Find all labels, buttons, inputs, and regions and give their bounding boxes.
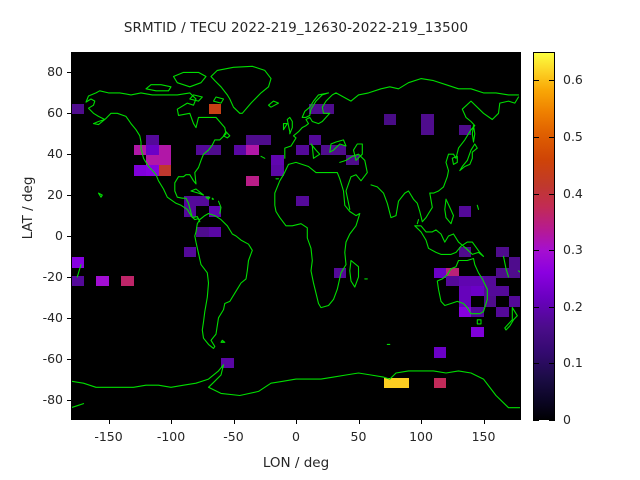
coastline-path — [71, 404, 84, 408]
colorbar-tick-mark — [533, 363, 539, 364]
coastline-path — [285, 79, 519, 159]
colorbar-tick-label: 0.6 — [563, 72, 609, 87]
colorbar-tick-mark — [533, 194, 539, 195]
coastline-path — [284, 124, 288, 130]
x-axis-label: LON / deg — [71, 455, 521, 471]
coastline-path — [371, 97, 519, 222]
y-tick-label: 80 — [23, 64, 63, 79]
coastline-path — [77, 265, 81, 277]
coastline-path — [224, 132, 230, 138]
y-tick-label: -80 — [23, 392, 63, 407]
coastline-path — [354, 144, 363, 160]
x-tick-label: 50 — [329, 429, 389, 444]
y-tick-label: 60 — [23, 105, 63, 120]
x-tick-label: 150 — [454, 429, 514, 444]
coastline-path — [505, 308, 518, 330]
colorbar-tick-mark — [549, 307, 555, 308]
coastline-path — [221, 340, 225, 342]
coastline-path — [261, 156, 265, 158]
coastline-path — [445, 199, 454, 224]
coastline-path — [269, 101, 279, 107]
y-tick-mark — [67, 195, 71, 196]
colorbar-tick-label: 0 — [563, 412, 609, 427]
colorbar-tick-mark — [533, 137, 539, 138]
colorbar-tick-mark — [533, 250, 539, 251]
x-tick-label: 0 — [266, 429, 326, 444]
coastline-path — [211, 66, 271, 113]
x-tick-mark — [359, 420, 360, 424]
coastline-path — [415, 226, 484, 257]
x-tick-mark — [171, 420, 172, 424]
colorbar-tick-mark — [549, 363, 555, 364]
colorbar-tick-mark — [549, 80, 555, 81]
coastline-path — [437, 259, 487, 314]
coastline-path — [71, 365, 521, 408]
coastline-path — [477, 205, 478, 209]
x-tick-label: -100 — [141, 429, 201, 444]
colorbar-tick-mark — [533, 420, 539, 421]
coastline-path — [504, 256, 509, 277]
coastline-path — [195, 214, 253, 349]
y-tick-label: -20 — [23, 269, 63, 284]
colorbar-tick-mark — [549, 137, 555, 138]
y-tick-mark — [67, 113, 71, 114]
y-tick-mark — [67, 72, 71, 73]
y-axis-label: LAT / deg — [20, 153, 36, 263]
y-tick-label: -60 — [23, 351, 63, 366]
coastline-path — [477, 320, 481, 324]
colorbar-tick-mark — [549, 420, 555, 421]
coastline-path — [519, 271, 522, 273]
colorbar-tick-label: 0.2 — [563, 299, 609, 314]
x-tick-mark — [234, 420, 235, 424]
y-tick-mark — [67, 277, 71, 278]
coastline-path — [330, 140, 346, 152]
colorbar-tick-mark — [533, 307, 539, 308]
colorbar-tick-mark — [549, 250, 555, 251]
coastline-path — [174, 72, 207, 86]
coastline-path — [350, 261, 359, 288]
coastline-path — [214, 97, 224, 103]
x-tick-mark — [296, 420, 297, 424]
y-tick-mark — [67, 154, 71, 155]
y-tick-mark — [67, 359, 71, 360]
y-tick-mark — [67, 400, 71, 401]
colorbar-tick-label: 0.5 — [563, 129, 609, 144]
figure-canvas: SRMTID / TECU 2022-219_12630-2022-219_13… — [0, 0, 640, 480]
y-tick-mark — [67, 236, 71, 237]
figure-title: SRMTID / TECU 2022-219_12630-2022-219_13… — [0, 20, 592, 36]
map-heatmap-axes[interactable] — [71, 52, 521, 420]
coastline-path — [190, 95, 203, 101]
coastline-path — [206, 197, 210, 199]
colorbar-tick-mark — [549, 194, 555, 195]
coastline-path — [99, 193, 103, 197]
y-tick-mark — [67, 318, 71, 319]
x-tick-mark — [421, 420, 422, 424]
coastline-path — [472, 126, 475, 142]
y-tick-label: -40 — [23, 310, 63, 325]
colorbar[interactable] — [533, 52, 555, 420]
x-tick-label: 100 — [391, 429, 451, 444]
x-tick-label: -150 — [79, 429, 139, 444]
coastline-path — [191, 189, 204, 195]
coastline-path — [417, 220, 418, 224]
coastline-path — [275, 162, 360, 307]
colorbar-tick-label: 0.3 — [563, 242, 609, 257]
colorbar-tick-mark — [533, 80, 539, 81]
coastline-path — [311, 144, 320, 158]
coastline-path — [86, 91, 226, 222]
coastline-path — [219, 201, 222, 213]
colorbar-tick-label: 0.4 — [563, 186, 609, 201]
coastline-path — [146, 85, 171, 91]
x-tick-mark — [109, 420, 110, 424]
coastline-path — [287, 117, 292, 133]
colorbar-tick-label: 0.1 — [563, 355, 609, 370]
x-tick-label: -50 — [204, 429, 264, 444]
coastline-path — [212, 198, 213, 199]
coastline-path — [460, 144, 478, 171]
coastline-overlay — [71, 52, 521, 420]
x-tick-mark — [484, 420, 485, 424]
